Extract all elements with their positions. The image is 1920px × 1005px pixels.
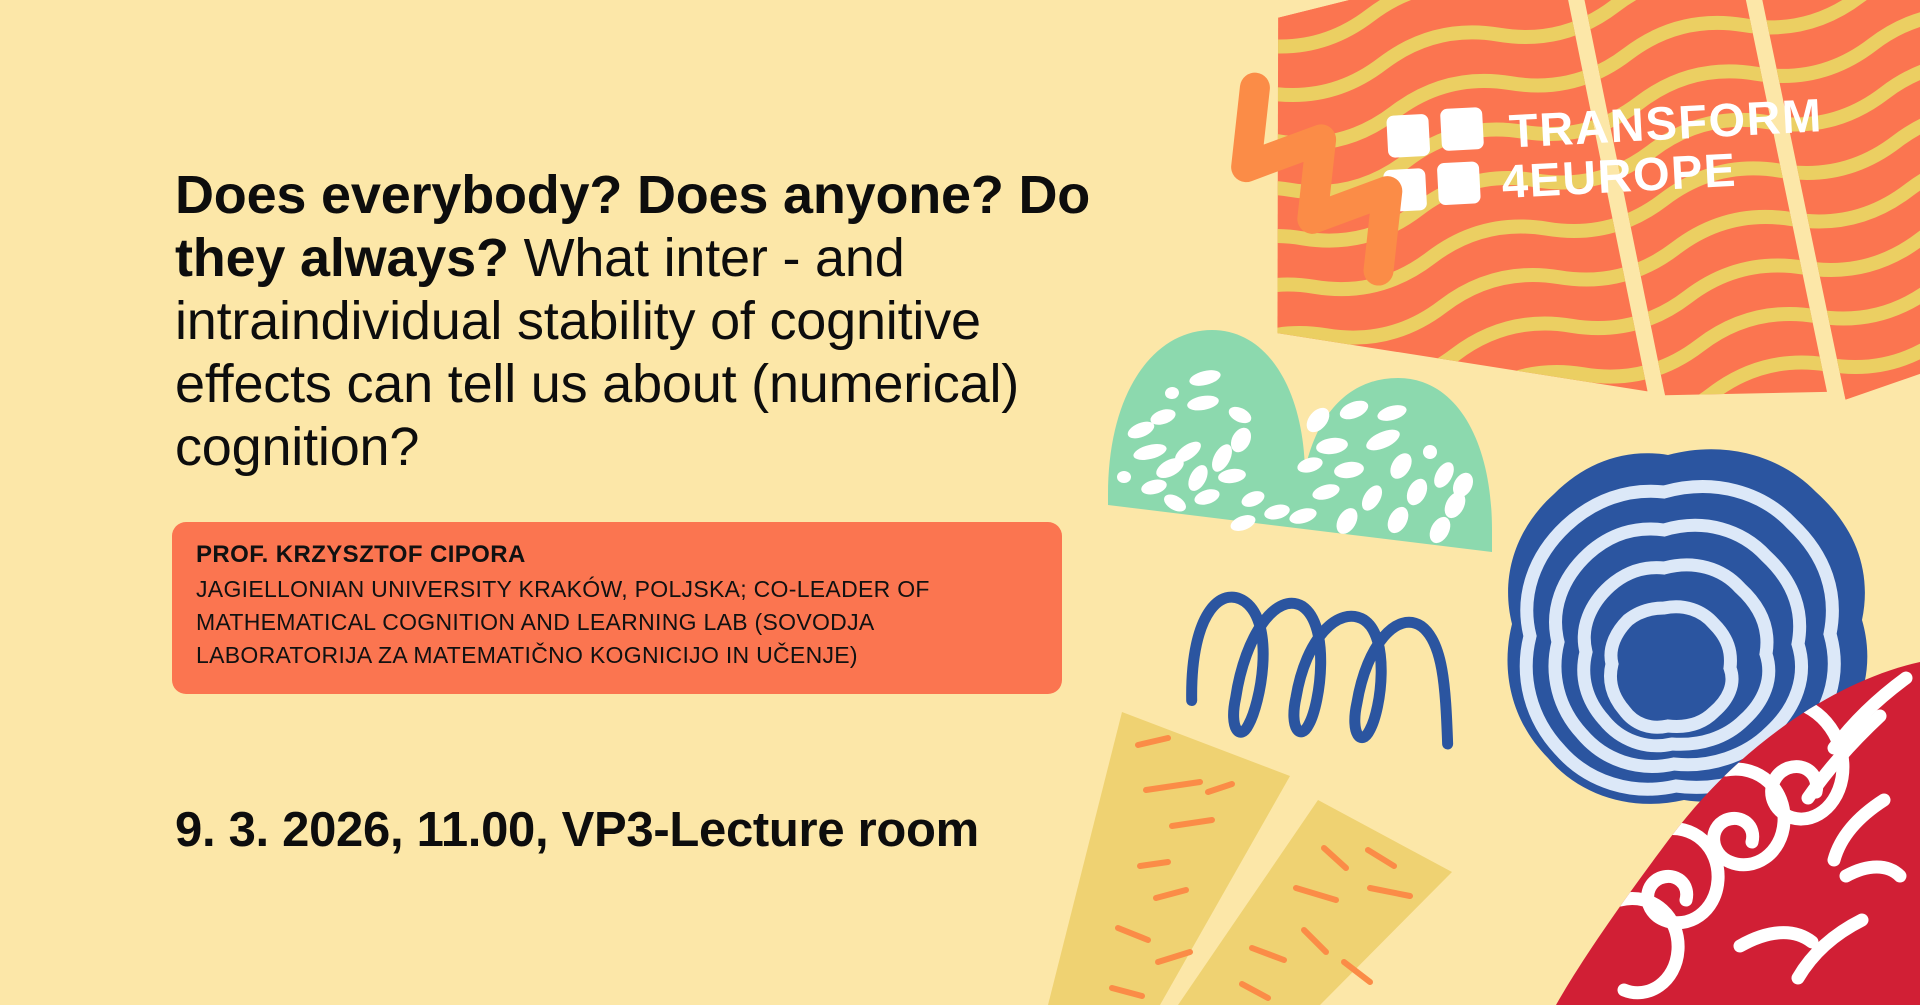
poster-canvas: TRANSFORM 4EUROPE (0, 0, 1920, 1005)
event-details: 9. 3. 2026, 11.00, VP3-Lecture room (175, 802, 979, 858)
speaker-name: PROF. KRZYSZTOF CIPORA (196, 541, 1038, 570)
poster-title: Does everybody? Does anyone? Do they alw… (175, 164, 1115, 479)
speaker-affiliation: JAGIELLONIAN UNIVERSITY KRAKÓW, POLJSKA;… (196, 573, 1038, 672)
speaker-info-box: PROF. KRZYSZTOF CIPORA JAGIELLONIAN UNIV… (172, 522, 1062, 694)
poster-content: Does everybody? Does anyone? Do they alw… (0, 0, 1920, 1005)
